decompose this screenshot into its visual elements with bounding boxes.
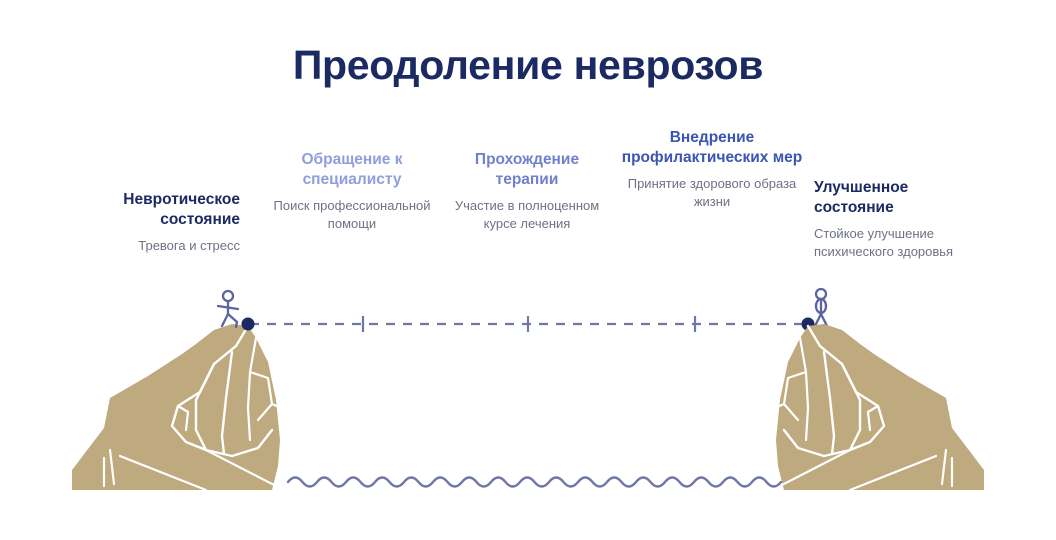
- step-heading-improved-state: Улучшенное состояние: [814, 178, 982, 218]
- step-column-specialist-referral: Обращение к специалисту Поиск профессион…: [268, 150, 436, 233]
- step-subtext-therapy-course: Участие в полноценном курсе лечения: [443, 197, 611, 233]
- dashed-journey-path: [242, 316, 815, 332]
- step-heading-specialist-referral: Обращение к специалисту: [268, 150, 436, 190]
- mountain-illustration: [0, 280, 1056, 510]
- step-subtext-specialist-referral: Поиск профессиональной помощи: [268, 197, 436, 233]
- step-subtext-improved-state: Стойкое улучшение психического здоровья: [814, 225, 982, 261]
- step-heading-preventive-measures: Внедрение профилактических мер: [618, 128, 806, 168]
- right-mountain: [770, 324, 984, 490]
- wavy-water-line: [288, 478, 781, 487]
- infographic-canvas: Преодоление неврозов Невротическое состо…: [0, 0, 1056, 540]
- step-column-neurotic-state: Невротическое состояние Тревога и стресс: [88, 190, 240, 255]
- step-subtext-preventive-measures: Принятие здорового образа жизни: [618, 175, 806, 211]
- step-column-improved-state: Улучшенное состояние Стойкое улучшение п…: [814, 178, 982, 261]
- step-heading-neurotic-state: Невротическое состояние: [88, 190, 240, 230]
- page-title: Преодоление неврозов: [0, 42, 1056, 89]
- step-heading-therapy-course: Прохождение терапии: [443, 150, 611, 190]
- step-subtext-neurotic-state: Тревога и стресс: [88, 237, 240, 255]
- step-column-therapy-course: Прохождение терапии Участие в полноценно…: [443, 150, 611, 233]
- step-column-preventive-measures: Внедрение профилактических мер Принятие …: [618, 128, 806, 211]
- left-mountain: [72, 324, 286, 490]
- walking-stick-figure: [218, 291, 238, 327]
- standing-stick-figure: [814, 289, 828, 328]
- path-start-dot: [242, 318, 255, 331]
